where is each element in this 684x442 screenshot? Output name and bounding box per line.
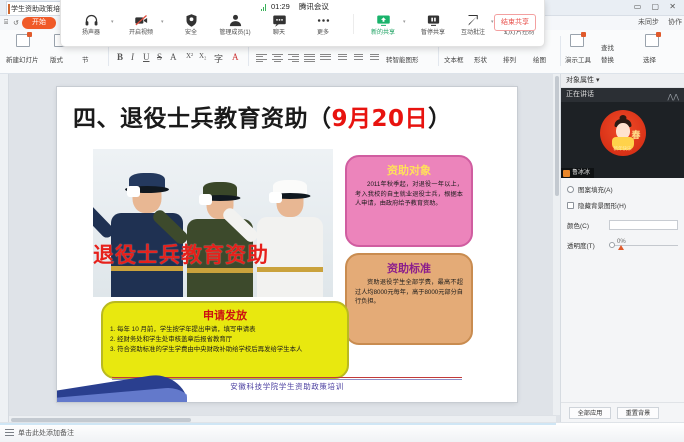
soldiers-photo[interactable] bbox=[93, 149, 333, 297]
justify-button[interactable] bbox=[304, 54, 315, 62]
option-hide-bg-graphic[interactable]: 隐藏背景图形(H) bbox=[567, 200, 678, 210]
layout-label[interactable]: 版式 bbox=[50, 54, 63, 64]
shape-button[interactable]: 形状 bbox=[474, 54, 487, 64]
pattern-fill-label: 图案填充(A) bbox=[578, 184, 613, 194]
video-status-header: 正在讲话 ⋀⋀ bbox=[561, 88, 684, 102]
meeting-annotate-label: 互动批注 bbox=[451, 30, 495, 37]
font-style-button[interactable]: A bbox=[170, 52, 177, 62]
shield-icon bbox=[184, 13, 199, 28]
pause-icon bbox=[426, 13, 441, 28]
arrange-button[interactable]: 排列 bbox=[503, 54, 516, 64]
status-bar: 单击此处添加备注 bbox=[0, 422, 684, 442]
start-button[interactable]: 开始 bbox=[22, 17, 56, 29]
meeting-chat-label: 聊天 bbox=[257, 30, 301, 37]
headset-icon bbox=[84, 13, 99, 28]
sync-status[interactable]: 未同步 bbox=[638, 19, 659, 26]
pane-title-label: 对象属性 bbox=[566, 77, 594, 84]
notes-icon[interactable] bbox=[5, 429, 14, 436]
present-tool-icon[interactable] bbox=[570, 34, 584, 47]
vertical-scrollbar[interactable] bbox=[553, 74, 560, 415]
avatar: 春 新年快乐 bbox=[600, 110, 646, 156]
hide-bg-graphic-label: 隐藏背景图形(H) bbox=[578, 200, 626, 210]
italic-button[interactable]: I bbox=[131, 52, 134, 62]
reset-background-button[interactable]: 重置背景 bbox=[617, 407, 659, 419]
slider-marker-icon bbox=[618, 245, 624, 250]
meeting-members-button[interactable]: 管理成员(1) bbox=[213, 13, 257, 37]
select-button[interactable]: 选择 bbox=[643, 54, 656, 64]
meeting-control-bar: 01:29 腾讯会议 扬声器 ▾ 开启视频 ▾ 安全 bbox=[60, 0, 545, 47]
video-tile[interactable]: 春 新年快乐 鲁冰冰 bbox=[561, 102, 684, 178]
aid-target-body: 2011年秋季起，对退役一年以上，考入我校的自主就业退役士兵，根据本人申请，由政… bbox=[355, 180, 463, 209]
ribbon-divider-4 bbox=[560, 36, 561, 66]
microphone-icon bbox=[563, 170, 570, 177]
undo-icon[interactable]: ↺ bbox=[13, 19, 19, 27]
meeting-audio-label: 扬声器 bbox=[69, 30, 113, 37]
new-slide-icon[interactable] bbox=[16, 34, 30, 47]
meeting-more-label: 更多 bbox=[301, 30, 345, 37]
numbered-list-button[interactable] bbox=[352, 54, 363, 62]
apply-issue-heading: 申请发放 bbox=[110, 307, 340, 323]
window-controls[interactable]: ▭ ▢ ✕ bbox=[634, 2, 680, 11]
status-bar-accent bbox=[0, 423, 556, 425]
ellipsis-icon bbox=[316, 13, 331, 28]
aid-target-heading: 资助对象 bbox=[355, 162, 463, 178]
select-icon[interactable] bbox=[645, 34, 659, 47]
signal-bars-icon bbox=[261, 4, 268, 11]
avatar-greeting-text: 新年快乐 bbox=[614, 146, 632, 152]
meeting-timer: 01:29 bbox=[271, 2, 290, 11]
meeting-slide-control-label: 幻灯片控制 bbox=[497, 30, 541, 37]
horizontal-scrollbar[interactable] bbox=[9, 415, 556, 422]
slide-thumbnail-panel[interactable] bbox=[0, 74, 9, 422]
screen-share-icon bbox=[376, 13, 391, 28]
meeting-more-button[interactable]: 更多 bbox=[301, 13, 345, 37]
bold-button[interactable]: B bbox=[117, 52, 123, 62]
notes-placeholder[interactable]: 单击此处添加备注 bbox=[18, 428, 74, 438]
indent-button[interactable] bbox=[368, 54, 379, 62]
font-color-button[interactable]: A bbox=[232, 52, 239, 62]
textbox-button[interactable]: 文本框 bbox=[444, 54, 464, 64]
photo-overlay-text[interactable]: 退役士兵教育资助 bbox=[93, 239, 343, 269]
hide-bg-graphic-checkbox[interactable] bbox=[567, 202, 574, 209]
bullet-list-button[interactable] bbox=[336, 54, 347, 62]
meeting-audio-button[interactable]: 扬声器 bbox=[69, 13, 113, 37]
meeting-status: 01:29 腾讯会议 bbox=[261, 1, 329, 12]
option-pattern-fill[interactable]: 图案填充(A) bbox=[567, 184, 678, 194]
speaker-name: 鲁冰冰 bbox=[572, 170, 590, 176]
field-color: 颜色(C) bbox=[567, 220, 678, 230]
smartart-button[interactable]: 转智能图形 bbox=[386, 54, 419, 64]
apply-all-button[interactable]: 全部应用 bbox=[569, 407, 611, 419]
aid-standard-body: 资助退役学生全部学费，最高不超过人均8000元每年，高于8000元部分自行负担。 bbox=[355, 278, 463, 307]
meeting-video-label: 开启视频 bbox=[119, 30, 163, 37]
strikethrough-button[interactable]: S bbox=[157, 52, 162, 62]
end-share-button[interactable]: 结束共享 bbox=[494, 14, 536, 31]
chat-icon bbox=[272, 13, 287, 28]
slider-knob[interactable] bbox=[609, 242, 615, 248]
speaker-name-chip: 鲁冰冰 bbox=[561, 168, 594, 178]
replace-button[interactable]: 替换 bbox=[601, 54, 614, 64]
meeting-pause-share-button[interactable]: 暂停共享 bbox=[411, 13, 455, 37]
camera-off-icon bbox=[134, 13, 149, 28]
meeting-members-label: 管理成员(1) bbox=[213, 30, 257, 37]
text-highlight-button[interactable]: 字 bbox=[214, 52, 223, 65]
section-label[interactable]: 节 bbox=[82, 54, 89, 64]
aid-standard-heading: 资助标准 bbox=[355, 260, 463, 276]
pen-icon bbox=[466, 13, 481, 28]
present-tool-button[interactable]: 演示工具 bbox=[565, 54, 591, 64]
people-icon bbox=[228, 13, 243, 28]
meeting-app-name: 腾讯会议 bbox=[299, 2, 329, 11]
soldier-white-navy bbox=[247, 175, 333, 297]
collab-button[interactable]: 协作 bbox=[668, 19, 682, 26]
corner-decoration bbox=[57, 362, 187, 402]
slide-title-main: 四、退役士兵教育资助（ bbox=[73, 106, 332, 132]
speaking-status: 正在讲话 bbox=[566, 91, 594, 98]
meeting-security-button[interactable]: 安全 bbox=[169, 13, 213, 37]
meeting-new-share-label: 新的共享 bbox=[361, 30, 405, 37]
collab-bar: 未同步 协作 bbox=[631, 17, 682, 29]
fill-button[interactable]: 绘图 bbox=[533, 54, 546, 64]
color-label: 颜色(C) bbox=[567, 220, 609, 230]
slide-box-aid-standard[interactable]: 资助标准 资助退役学生全部学费，最高不超过人均8000元每年，高于8000元部分… bbox=[345, 253, 473, 345]
save-icon[interactable]: ⌸ bbox=[4, 19, 8, 27]
meeting-security-label: 安全 bbox=[169, 30, 213, 37]
object-properties-pane: 对象属性 ▾ 正在讲话 ⋀⋀ 春 新年快乐 鲁冰冰 图案填充(A) bbox=[560, 74, 684, 422]
meeting-divider bbox=[353, 14, 354, 34]
slide-box-aid-target[interactable]: 资助对象 2011年秋季起，对退役一年以上，考入我校的自主就业退役士兵，根据本人… bbox=[345, 155, 473, 247]
new-slide-label[interactable]: 新建幻灯片 bbox=[6, 54, 39, 64]
meeting-annotate-button[interactable]: 互动批注 bbox=[451, 13, 495, 37]
field-transparency: 透明度(T) 0% bbox=[567, 240, 678, 250]
avatar-fu-character: 春 bbox=[631, 128, 640, 141]
align-left-button[interactable] bbox=[256, 54, 267, 62]
transparency-slider[interactable]: 0% bbox=[609, 240, 678, 250]
slide-title[interactable]: 四、退役士兵教育资助（9月20日） bbox=[73, 99, 503, 133]
subscript-button[interactable]: X₂ bbox=[199, 52, 207, 60]
share-chevron-down-icon[interactable]: ▾ bbox=[403, 19, 406, 25]
wps-presentation-window: 学生资助政策培训 ▭ ▢ ✕ ⌸ ↺ 开始 未同步 协作 新建幻灯片 版式 节 … bbox=[0, 0, 684, 442]
meeting-new-share-button[interactable]: 新的共享 bbox=[361, 13, 405, 37]
apply-issue-body: 1. 每年 10 月前，学生按学年提出申请，填写申请表 2. 经财务处和学生处审… bbox=[110, 325, 340, 355]
pane-title[interactable]: 对象属性 ▾ bbox=[561, 74, 684, 88]
meeting-chat-button[interactable]: 聊天 bbox=[257, 13, 301, 37]
pattern-fill-radio[interactable] bbox=[567, 186, 574, 193]
transparency-label: 透明度(T) bbox=[567, 240, 609, 250]
line-spacing-button[interactable] bbox=[320, 54, 331, 62]
pane-options: 图案填充(A) 隐藏背景图形(H) 颜色(C) 透明度(T) 0% bbox=[561, 178, 684, 250]
superscript-button[interactable]: X² bbox=[186, 52, 193, 60]
meeting-pause-share-label: 暂停共享 bbox=[411, 30, 455, 37]
slide-title-date: 9月20日 bbox=[332, 106, 429, 132]
audio-chevron-down-icon[interactable]: ▾ bbox=[111, 19, 114, 25]
color-swatch[interactable] bbox=[609, 220, 678, 230]
meeting-video-button[interactable]: 开启视频 bbox=[119, 13, 163, 37]
video-chevron-down-icon[interactable]: ▾ bbox=[161, 19, 164, 25]
align-center-button[interactable] bbox=[272, 54, 283, 62]
slide-canvas[interactable]: 四、退役士兵教育资助（9月20日） bbox=[57, 87, 517, 402]
slide-title-tail: ） bbox=[428, 106, 452, 132]
find-button[interactable]: 查找 bbox=[601, 42, 614, 52]
underline-button[interactable]: U bbox=[143, 52, 150, 62]
pane-footer: 全部应用 重置背景 bbox=[561, 402, 684, 422]
align-right-button[interactable] bbox=[288, 54, 299, 62]
